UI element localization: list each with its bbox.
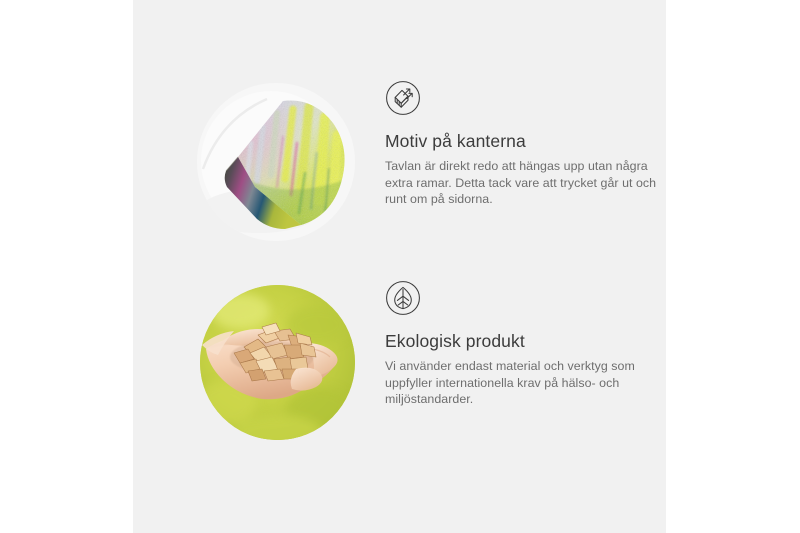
feature-text-canvas-edge: Motiv på kanterna Tavlan är direkt redo …	[385, 80, 657, 208]
feature-text-eco-product: Ekologisk produkt Vi använder endast mat…	[385, 280, 657, 408]
feature-block-eco-product: Ekologisk produkt Vi använder endast mat…	[133, 275, 666, 455]
content-panel: Motiv på kanterna Tavlan är direkt redo …	[133, 0, 666, 533]
feature-block-canvas-edge: Motiv på kanterna Tavlan är direkt redo …	[133, 80, 666, 260]
canvas-corner-photo	[197, 83, 355, 241]
feature-body: Vi använder endast material och verktyg …	[385, 358, 657, 408]
feature-body: Tavlan är direkt redo att hängas upp uta…	[385, 158, 657, 208]
hands-holding-wood-chips-photo	[200, 285, 355, 440]
promo-page: Motiv på kanterna Tavlan är direkt redo …	[0, 0, 800, 533]
feature-title: Ekologisk produkt	[385, 330, 657, 352]
canvas-edge-print-icon	[385, 80, 421, 116]
feature-title: Motiv på kanterna	[385, 130, 657, 152]
leaf-icon	[385, 280, 421, 316]
